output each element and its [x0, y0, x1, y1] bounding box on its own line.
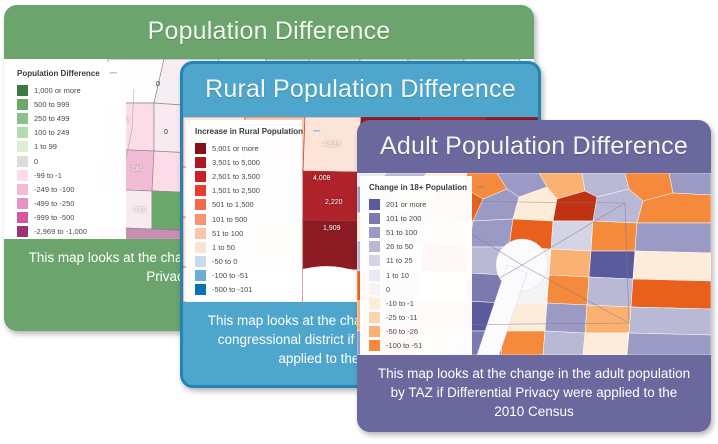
legend-swatch — [369, 326, 380, 337]
card-caption-adult: This map looks at the change in the adul… — [357, 355, 711, 432]
legend-swatch — [195, 214, 206, 225]
legend-item-label: 26 to 50 — [386, 242, 413, 251]
legend-item-label: 1 to 50 — [212, 243, 235, 252]
legend-swatch — [369, 340, 380, 351]
legend-item-label: 0 — [386, 285, 390, 294]
legend-item[interactable]: 51 to 100 — [369, 225, 464, 239]
legend-item-label: 0 — [34, 157, 38, 166]
legend-item[interactable]: 11 to 25 — [369, 254, 464, 268]
map-adult[interactable]: Change in 18+ Population ─ 201 or more 1… — [357, 173, 711, 355]
legend-item[interactable]: 500 to 999 — [17, 97, 118, 111]
legend-swatch — [17, 198, 28, 209]
legend-item-label: -499 to -250 — [34, 199, 74, 208]
legend-swatch — [369, 213, 380, 224]
legend-swatch — [369, 241, 380, 252]
legend-item[interactable]: 1 to 50 — [195, 240, 294, 254]
legend-swatch — [369, 199, 380, 210]
legend-item-label: 1 to 10 — [386, 271, 409, 280]
legend-item[interactable]: 51 to 100 — [195, 226, 294, 240]
legend-swatch — [195, 185, 206, 196]
minus-icon[interactable]: ─ — [313, 129, 320, 135]
legend-header[interactable]: Population Difference ─ — [17, 69, 118, 78]
legend-swatch — [369, 312, 380, 323]
legend-item-label: -10 to -1 — [386, 299, 414, 308]
legend-item-label: 500 to 999 — [34, 100, 69, 109]
legend-item[interactable]: -25 to -11 — [369, 311, 464, 325]
legend-swatch — [17, 212, 28, 223]
legend-header[interactable]: Change in 18+ Population ─ — [369, 183, 464, 192]
legend-item[interactable]: 1,501 to 2,500 — [195, 184, 294, 198]
legend-item[interactable]: 201 or more — [369, 197, 464, 211]
legend-item-label: 1,000 or more — [34, 86, 81, 95]
legend-item[interactable]: -100 to -51 — [369, 339, 464, 353]
legend-item-label: 201 or more — [386, 200, 426, 209]
legend-swatch — [17, 141, 28, 152]
legend-item[interactable]: 501 to 1,500 — [195, 198, 294, 212]
legend-swatch — [195, 242, 206, 253]
card-title-population: Population Difference — [4, 5, 534, 59]
legend-swatch — [17, 113, 28, 124]
legend-item[interactable]: 3,501 to 5,000 — [195, 155, 294, 169]
legend-swatch — [195, 157, 206, 168]
legend-swatch — [369, 284, 380, 295]
minus-icon[interactable]: ─ — [110, 71, 117, 77]
legend-item[interactable]: -499 to -250 — [17, 197, 118, 211]
minus-icon[interactable]: ─ — [477, 185, 484, 191]
legend-item-label: -100 to -51 — [386, 341, 422, 350]
legend-rural[interactable]: Increase in Rural Population ─ 5,001 or … — [186, 120, 302, 302]
legend-item[interactable]: 0 — [369, 282, 464, 296]
legend-adult[interactable]: Change in 18+ Population ─ 201 or more 1… — [360, 176, 472, 355]
legend-population[interactable]: Population Difference ─ 1,000 or more 50… — [8, 62, 126, 239]
legend-item-label: 51 to 100 — [212, 229, 243, 238]
legend-item[interactable]: -50 to -26 — [369, 325, 464, 339]
legend-item-label: -50 to -26 — [386, 327, 418, 336]
legend-swatch — [195, 143, 206, 154]
legend-swatch — [17, 226, 28, 237]
card-adult-population-difference[interactable]: Adult Population Difference — [357, 120, 711, 432]
legend-item-label: -500 to -101 — [212, 285, 252, 294]
legend-swatch — [369, 227, 380, 238]
legend-item[interactable]: -2,969 to -1,000 — [17, 225, 118, 239]
legend-item[interactable]: -10 to -1 — [369, 296, 464, 310]
legend-swatch — [195, 171, 206, 182]
legend-item[interactable]: 101 to 200 — [369, 211, 464, 225]
legend-item[interactable]: 100 to 249 — [17, 126, 118, 140]
legend-item[interactable]: 1 to 10 — [369, 268, 464, 282]
legend-item-label: 51 to 100 — [386, 228, 417, 237]
legend-swatch — [17, 85, 28, 96]
legend-item-label: 101 to 200 — [386, 214, 421, 223]
card-stack: Population Difference — [0, 0, 718, 444]
legend-item-label: 5,001 or more — [212, 144, 259, 153]
legend-item[interactable]: -500 to -101 — [195, 283, 294, 297]
legend-item-label: 501 to 1,500 — [212, 200, 254, 209]
legend-item-label: 1,501 to 2,500 — [212, 186, 260, 195]
legend-title: Population Difference — [17, 69, 100, 78]
legend-swatch — [369, 298, 380, 309]
legend-item[interactable]: -200 to -101 — [369, 353, 464, 355]
legend-item[interactable]: -50 to 0 — [195, 255, 294, 269]
legend-item-label: -99 to -1 — [34, 171, 62, 180]
legend-item-label: 2,501 to 3,500 — [212, 172, 260, 181]
legend-item[interactable]: 101 to 500 — [195, 212, 294, 226]
legend-item-label: 250 to 499 — [34, 114, 69, 123]
legend-item[interactable]: 26 to 50 — [369, 240, 464, 254]
legend-title: Change in 18+ Population — [369, 183, 467, 192]
legend-swatch — [369, 255, 380, 266]
legend-swatch — [17, 99, 28, 110]
legend-item[interactable]: 250 to 499 — [17, 111, 118, 125]
legend-swatch — [195, 199, 206, 210]
legend-item[interactable]: -249 to -100 — [17, 182, 118, 196]
legend-swatch — [195, 284, 206, 295]
legend-header[interactable]: Increase in Rural Population ─ — [195, 127, 294, 136]
legend-item-label: 1 to 99 — [34, 142, 57, 151]
legend-item[interactable]: 1 to 99 — [17, 140, 118, 154]
legend-swatch — [17, 156, 28, 167]
legend-item[interactable]: -99 to -1 — [17, 168, 118, 182]
legend-swatch — [17, 184, 28, 195]
legend-item[interactable]: 5,001 or more — [195, 141, 294, 155]
legend-item-label: -999 to -500 — [34, 213, 74, 222]
card-title-rural: Rural Population Difference — [183, 64, 538, 117]
legend-item-label: -25 to -11 — [386, 313, 418, 322]
legend-item[interactable]: -100 to -51 — [195, 269, 294, 283]
legend-item-label: -100 to -51 — [212, 271, 248, 280]
legend-item[interactable]: -999 to -500 — [17, 211, 118, 225]
legend-item-label: 11 to 25 — [386, 256, 413, 265]
legend-swatch — [195, 228, 206, 239]
legend-swatch — [195, 270, 206, 281]
legend-item[interactable]: 0 — [17, 154, 118, 168]
legend-item-label: -2,969 to -1,000 — [34, 227, 87, 236]
legend-item-label: 100 to 249 — [34, 128, 69, 137]
card-title-adult: Adult Population Difference — [357, 120, 711, 173]
legend-item[interactable]: 2,501 to 3,500 — [195, 169, 294, 183]
legend-item-label: 3,501 to 5,000 — [212, 158, 260, 167]
legend-item-label: -249 to -100 — [34, 185, 74, 194]
legend-swatch — [369, 270, 380, 281]
legend-item[interactable]: 1,000 or more — [17, 83, 118, 97]
legend-item-label: -50 to 0 — [212, 257, 237, 266]
legend-swatch — [17, 127, 28, 138]
legend-swatch — [195, 256, 206, 267]
legend-swatch — [17, 170, 28, 181]
legend-item-label: 101 to 500 — [212, 215, 247, 224]
legend-title: Increase in Rural Population — [195, 127, 303, 136]
